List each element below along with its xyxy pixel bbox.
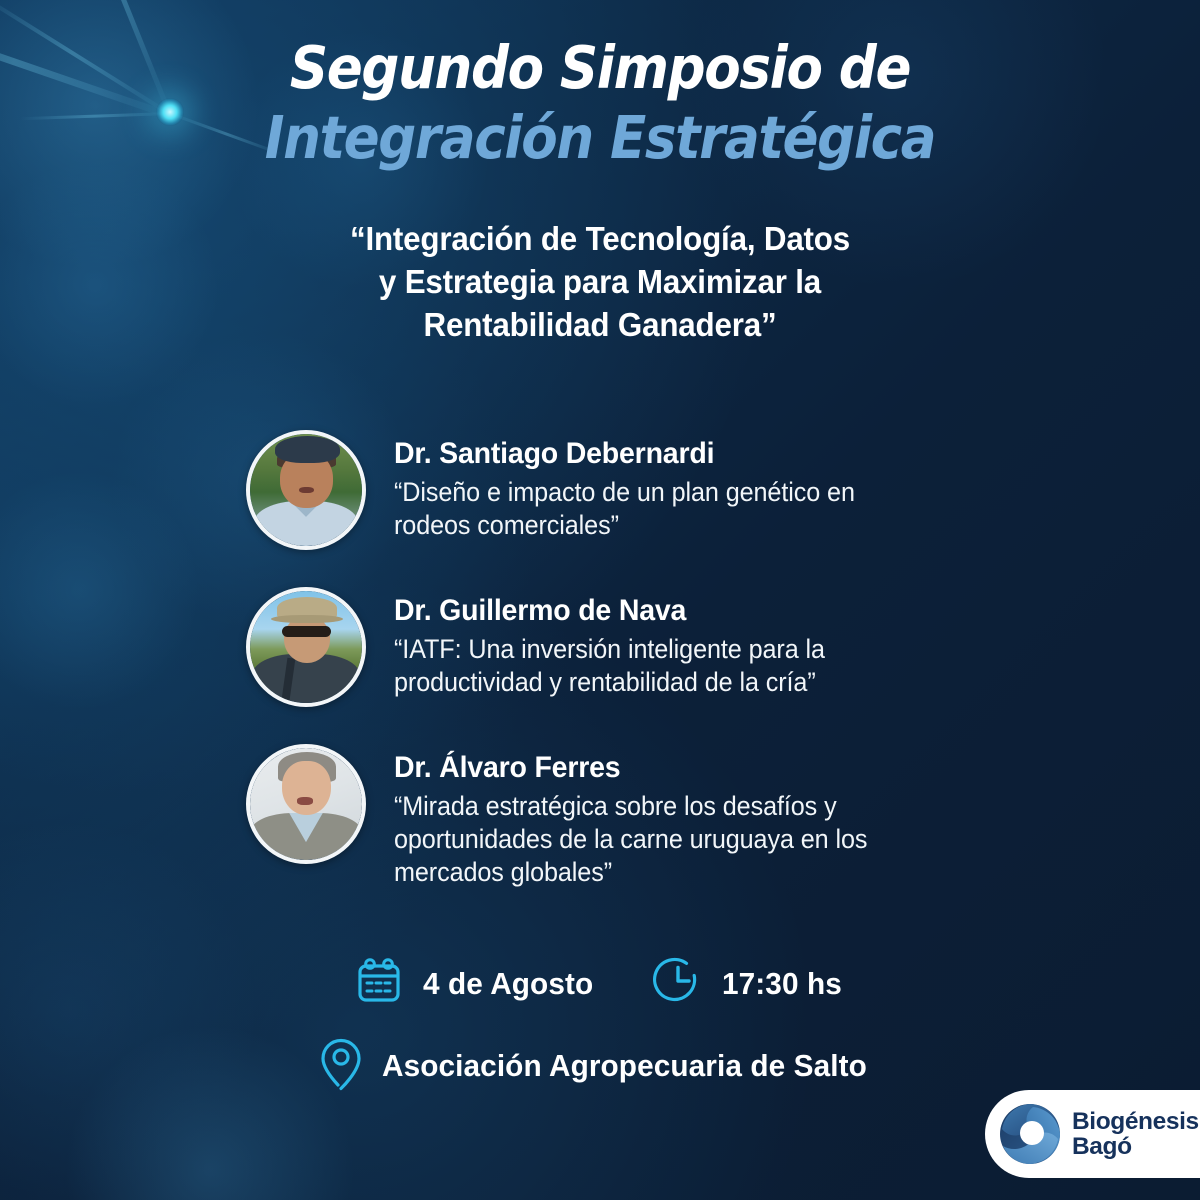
speakers-list: Dr. Santiago Debernardi “Diseño e impact…	[246, 430, 946, 890]
speaker-name: Dr. Guillermo de Nava	[394, 594, 825, 628]
event-date-group: 4 de Agosto	[353, 955, 600, 1012]
speaker-name: Dr. Santiago Debernardi	[394, 437, 855, 471]
poster-canvas: Segundo Simposio de Integración Estratég…	[0, 0, 1200, 1200]
speaker-photo-alvaro-ferres	[250, 748, 362, 860]
event-subtitle: “Integración de Tecnología, Datos y Estr…	[30, 218, 1170, 347]
calendar-icon	[353, 955, 405, 1012]
event-details-row-date-time: 4 de Agosto 17:30 hs	[0, 955, 1200, 1012]
speaker-item: Dr. Guillermo de Nava “IATF: Una inversi…	[246, 587, 946, 707]
headline-block: Segundo Simposio de Integración Estratég…	[0, 38, 1200, 167]
speaker-text: Dr. Santiago Debernardi “Diseño e impact…	[366, 430, 879, 542]
event-title-line2: Integración Estratégica	[60, 108, 1140, 167]
brand-name-line2: Bagó	[1072, 1134, 1199, 1159]
avatar	[246, 587, 366, 707]
speaker-name: Dr. Álvaro Ferres	[394, 751, 867, 785]
event-location: Asociación Agropecuaria de Salto	[382, 1048, 867, 1084]
brand-name-line1: Biogénesis	[1072, 1109, 1199, 1134]
event-time-group: 17:30 hs	[652, 955, 847, 1012]
event-details: 4 de Agosto 17:30 hs	[0, 955, 1200, 1098]
speaker-item: Dr. Álvaro Ferres “Mirada estratégica so…	[246, 744, 946, 890]
event-details-row-location: Asociación Agropecuaria de Salto	[0, 1033, 1200, 1098]
event-time: 17:30 hs	[722, 966, 842, 1002]
speaker-text: Dr. Guillermo de Nava “IATF: Una inversi…	[366, 587, 848, 699]
biogenesis-aperture-icon	[999, 1103, 1061, 1165]
bokeh-blob	[0, 470, 200, 710]
speaker-text: Dr. Álvaro Ferres “Mirada estratégica so…	[366, 744, 892, 890]
speaker-talk-line: mercados globales”	[394, 856, 867, 889]
speaker-photo-santiago-debernardi	[250, 434, 362, 546]
speaker-talk: “Mirada estratégica sobre los desafíos y…	[394, 790, 867, 890]
speaker-talk: “Diseño e impacto de un plan genético en…	[394, 476, 855, 543]
speaker-talk-line: productividad y rentabilidad de la cría”	[394, 666, 825, 699]
event-date: 4 de Agosto	[423, 966, 593, 1002]
brand-logo-text: Biogénesis Bagó	[1072, 1109, 1199, 1159]
event-title-line1: Segundo Simposio de	[60, 38, 1140, 97]
event-subtitle-line2: y Estrategia para Maximizar la	[30, 261, 1170, 304]
speaker-item: Dr. Santiago Debernardi “Diseño e impact…	[246, 430, 946, 550]
event-location-group: Asociación Agropecuaria de Salto	[313, 1033, 887, 1098]
speaker-talk-line: “IATF: Una inversión inteligente para la	[394, 633, 825, 666]
speaker-talk: “IATF: Una inversión inteligente para la…	[394, 633, 825, 700]
speaker-talk-line: “Mirada estratégica sobre los desafíos y	[394, 790, 867, 823]
brand-logo: Biogénesis Bagó	[985, 1090, 1200, 1178]
speaker-talk-line: rodeos comerciales”	[394, 509, 855, 542]
event-subtitle-line3: Rentabilidad Ganadera”	[30, 304, 1170, 347]
avatar	[246, 744, 366, 864]
location-pin-icon	[313, 1033, 369, 1098]
speaker-talk-line: “Diseño e impacto de un plan genético en	[394, 476, 855, 509]
clock-icon	[652, 955, 704, 1012]
speaker-photo-guillermo-de-nava	[250, 591, 362, 703]
avatar	[246, 430, 366, 550]
event-subtitle-line1: “Integración de Tecnología, Datos	[30, 218, 1170, 261]
speaker-talk-line: oportunidades de la carne uruguaya en lo…	[394, 823, 867, 856]
